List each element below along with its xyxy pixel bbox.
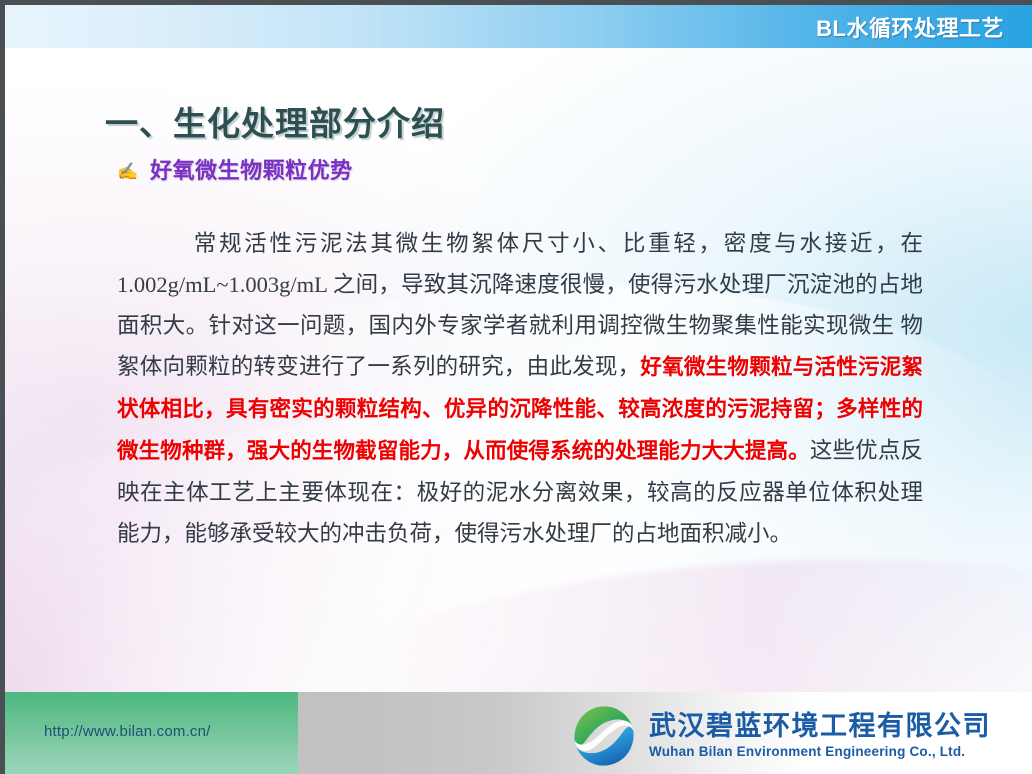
company-logo: 武汉碧蓝环境工程有限公司 Wuhan Bilan Environment Eng…	[571, 703, 991, 769]
header-title: BL水循环处理工艺	[816, 11, 1004, 43]
subtitle-row: ✍ 好氧微生物颗粒优势	[117, 153, 353, 185]
website-url[interactable]: http://www.bilan.com.cn/	[44, 723, 211, 740]
company-name-cn: 武汉碧蓝环境工程有限公司	[649, 713, 991, 740]
subtitle-text: 好氧微生物颗粒优势	[150, 153, 353, 185]
flourish-bullet-icon: ✍	[117, 163, 138, 180]
page-title: 一、生化处理部分介绍	[105, 97, 445, 145]
company-name-block: 武汉碧蓝环境工程有限公司 Wuhan Bilan Environment Eng…	[649, 713, 991, 759]
company-name-en: Wuhan Bilan Environment Engineering Co.,…	[649, 745, 991, 759]
body-paragraph: 常规活性污泥法其微生物絮体尺寸小、比重轻，密度与水接近，在1.002g/mL~1…	[117, 223, 923, 554]
bilan-swirl-logo-icon	[571, 703, 637, 769]
slide-canvas: BL水循环处理工艺 一、生化处理部分介绍 ✍ 好氧微生物颗粒优势 常规活性污泥法…	[0, 0, 1032, 774]
